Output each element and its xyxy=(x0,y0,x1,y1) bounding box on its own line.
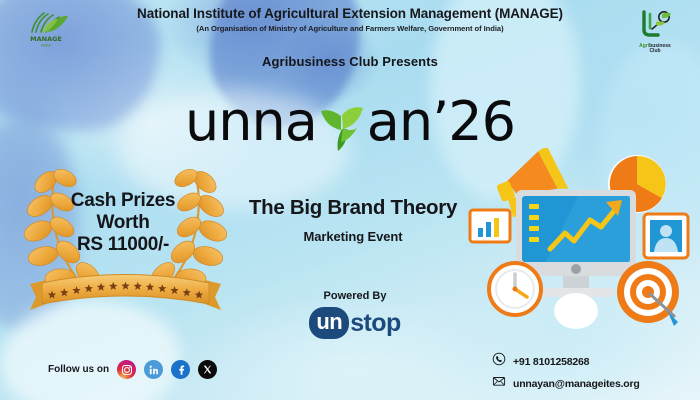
title-part-two: an’26 xyxy=(367,90,515,153)
email-row[interactable]: unnayan@manageites.org xyxy=(492,374,682,393)
event-name: The Big Brand Theory xyxy=(222,196,484,220)
cash-prize-text: Cash Prizes Worth RS 11000/- xyxy=(48,190,198,256)
unstop-logo[interactable]: unstop xyxy=(255,307,455,339)
unstop-logo-suffix: stop xyxy=(350,311,400,336)
marketing-illustration xyxy=(468,148,700,334)
linkedin-icon[interactable] xyxy=(144,360,163,379)
facebook-icon[interactable] xyxy=(171,360,190,379)
clock-icon xyxy=(489,263,541,315)
cash-prize-line1: Cash Prizes xyxy=(48,190,198,212)
title-part-one: unna xyxy=(185,90,317,153)
powered-by-label: Powered By xyxy=(255,290,455,302)
agribusiness-club-logo-label: Agribusiness Club xyxy=(628,44,682,55)
leaf-y-icon xyxy=(317,102,367,152)
phone-row[interactable]: +91 8101258268 xyxy=(492,352,682,371)
phone-icon xyxy=(492,352,506,371)
follow-us-label: Follow us on xyxy=(48,364,109,375)
institute-header: National Institute of Agricultural Exten… xyxy=(0,6,700,33)
email-address: unnayan@manageites.org xyxy=(513,378,640,390)
logo-label-agri: Agri xyxy=(639,43,649,49)
event-poster: MANAGE INDIA Agribusiness Club National … xyxy=(0,0,700,400)
profile-card-icon xyxy=(644,214,688,258)
page-title: unna an’26 xyxy=(0,90,700,153)
cash-prize-line2: Worth xyxy=(48,212,198,234)
presents-line: Agribusiness Club Presents xyxy=(0,54,700,69)
unstop-logo-prefix: un xyxy=(309,307,349,339)
event-details: The Big Brand Theory Marketing Event xyxy=(222,196,484,244)
powered-by-block: Powered By unstop xyxy=(255,290,455,339)
cash-prize-line3: RS 11000/- xyxy=(48,234,198,256)
institute-subtitle: (An Organisation of Ministry of Agricult… xyxy=(0,24,700,33)
institute-name: National Institute of Agricultural Exten… xyxy=(0,6,700,23)
x-twitter-icon[interactable] xyxy=(198,360,217,379)
event-type: Marketing Event xyxy=(222,229,484,244)
svg-text:INDIA: INDIA xyxy=(41,44,52,48)
phone-number: +91 8101258268 xyxy=(513,356,589,368)
follow-us-block: Follow us on xyxy=(48,360,217,379)
email-icon xyxy=(492,374,506,393)
bar-chart-card-icon xyxy=(470,210,510,242)
svg-text:MANAGE: MANAGE xyxy=(30,35,62,43)
instagram-icon[interactable] xyxy=(117,360,136,379)
contact-block: +91 8101258268 unnayan@manageites.org xyxy=(492,352,682,396)
target-dartboard-icon xyxy=(617,261,679,326)
